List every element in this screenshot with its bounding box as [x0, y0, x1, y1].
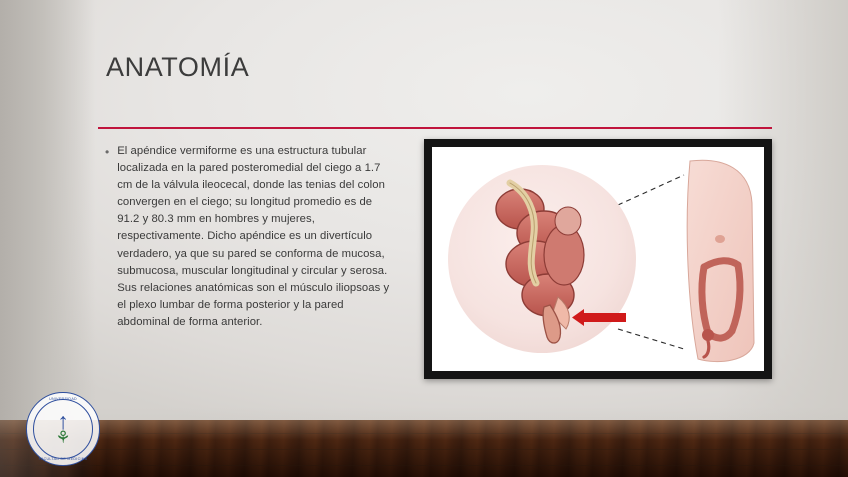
floor-plank-line: [0, 433, 848, 434]
body-bullet-block: • El apéndice vermiforme es una estructu…: [105, 143, 395, 331]
wooden-floor: [0, 420, 848, 477]
logo-top-text: UNIVERSIDAD: [26, 397, 100, 401]
anatomy-illustration-graphic: [432, 147, 764, 371]
page-title: ANATOMÍA: [106, 52, 249, 83]
logo-bottom-text: FACULTAD DE MEDICINA: [26, 457, 100, 461]
anatomy-image-frame: [424, 139, 772, 379]
slide-canvas: ANATOMÍA • El apéndice vermiforme es una…: [0, 0, 848, 477]
bullet-marker: •: [105, 143, 109, 331]
title-divider: [98, 127, 772, 129]
university-logo: UNIVERSIDAD ↑ ⚘ FACULTAD DE MEDICINA: [26, 392, 100, 466]
body-paragraph: El apéndice vermiforme es una estructura…: [117, 143, 395, 331]
anatomy-image: [432, 147, 764, 371]
wreath-icon: ⚘: [26, 428, 100, 448]
floor-plank-line: [0, 449, 848, 450]
floor-plank-line: [0, 465, 848, 466]
